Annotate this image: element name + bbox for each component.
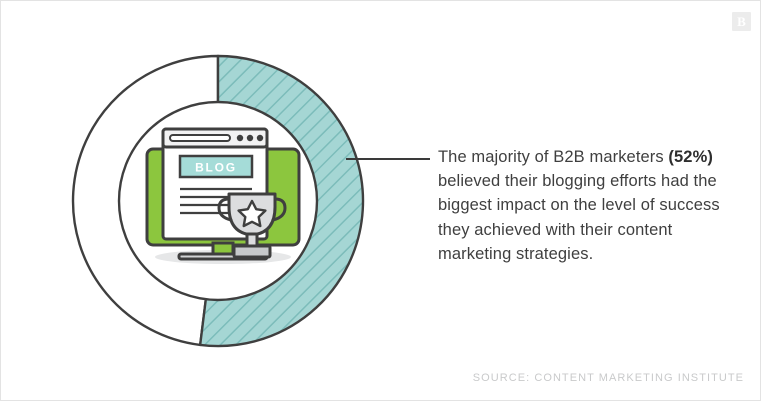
annotation-text-after: believed their blogging efforts had the … xyxy=(438,172,720,263)
browser-url-bar xyxy=(170,135,230,141)
annotation-highlight-value: (52%) xyxy=(668,148,713,166)
infographic-canvas: B xyxy=(0,0,761,401)
brand-logo: B xyxy=(732,12,751,31)
browser-dot-icon xyxy=(237,135,243,141)
brand-logo-letter: B xyxy=(732,12,751,31)
callout-annotation: The majority of B2B marketers (52%) beli… xyxy=(438,145,723,266)
source-attribution: SOURCE: CONTENT MARKETING INSTITUTE xyxy=(473,372,744,384)
blog-trophy-illustration-svg: BLOG xyxy=(135,113,311,273)
browser-dot-icon xyxy=(257,135,263,141)
callout-leader-line xyxy=(346,158,430,160)
blog-banner-label: BLOG xyxy=(195,161,237,175)
browser-dot-icon xyxy=(247,135,253,141)
blog-trophy-illustration: BLOG xyxy=(135,113,311,273)
annotation-text-before: The majority of B2B marketers xyxy=(438,148,668,166)
trophy-base xyxy=(234,246,270,257)
